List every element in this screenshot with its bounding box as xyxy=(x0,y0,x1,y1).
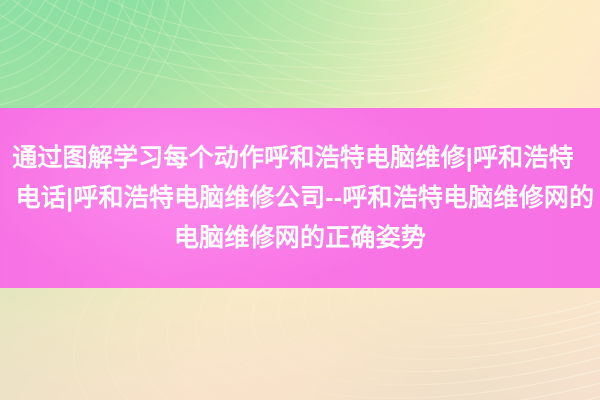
headline-block: 通过图解学习每个动作呼和浩特电脑维修|呼和浩特 电话|呼和浩特电脑维修公司--呼… xyxy=(0,108,600,288)
banner-image: 通过图解学习每个动作呼和浩特电脑维修|呼和浩特 电话|呼和浩特电脑维修公司--呼… xyxy=(0,0,600,400)
headline-line-3: 电脑维修网的正确姿势 xyxy=(174,218,426,258)
headline-line-2: 电话|呼和浩特电脑维修公司--呼和浩特电脑维修网的 xyxy=(16,178,595,218)
headline-line-1: 通过图解学习每个动作呼和浩特电脑维修|呼和浩特 xyxy=(12,138,574,178)
